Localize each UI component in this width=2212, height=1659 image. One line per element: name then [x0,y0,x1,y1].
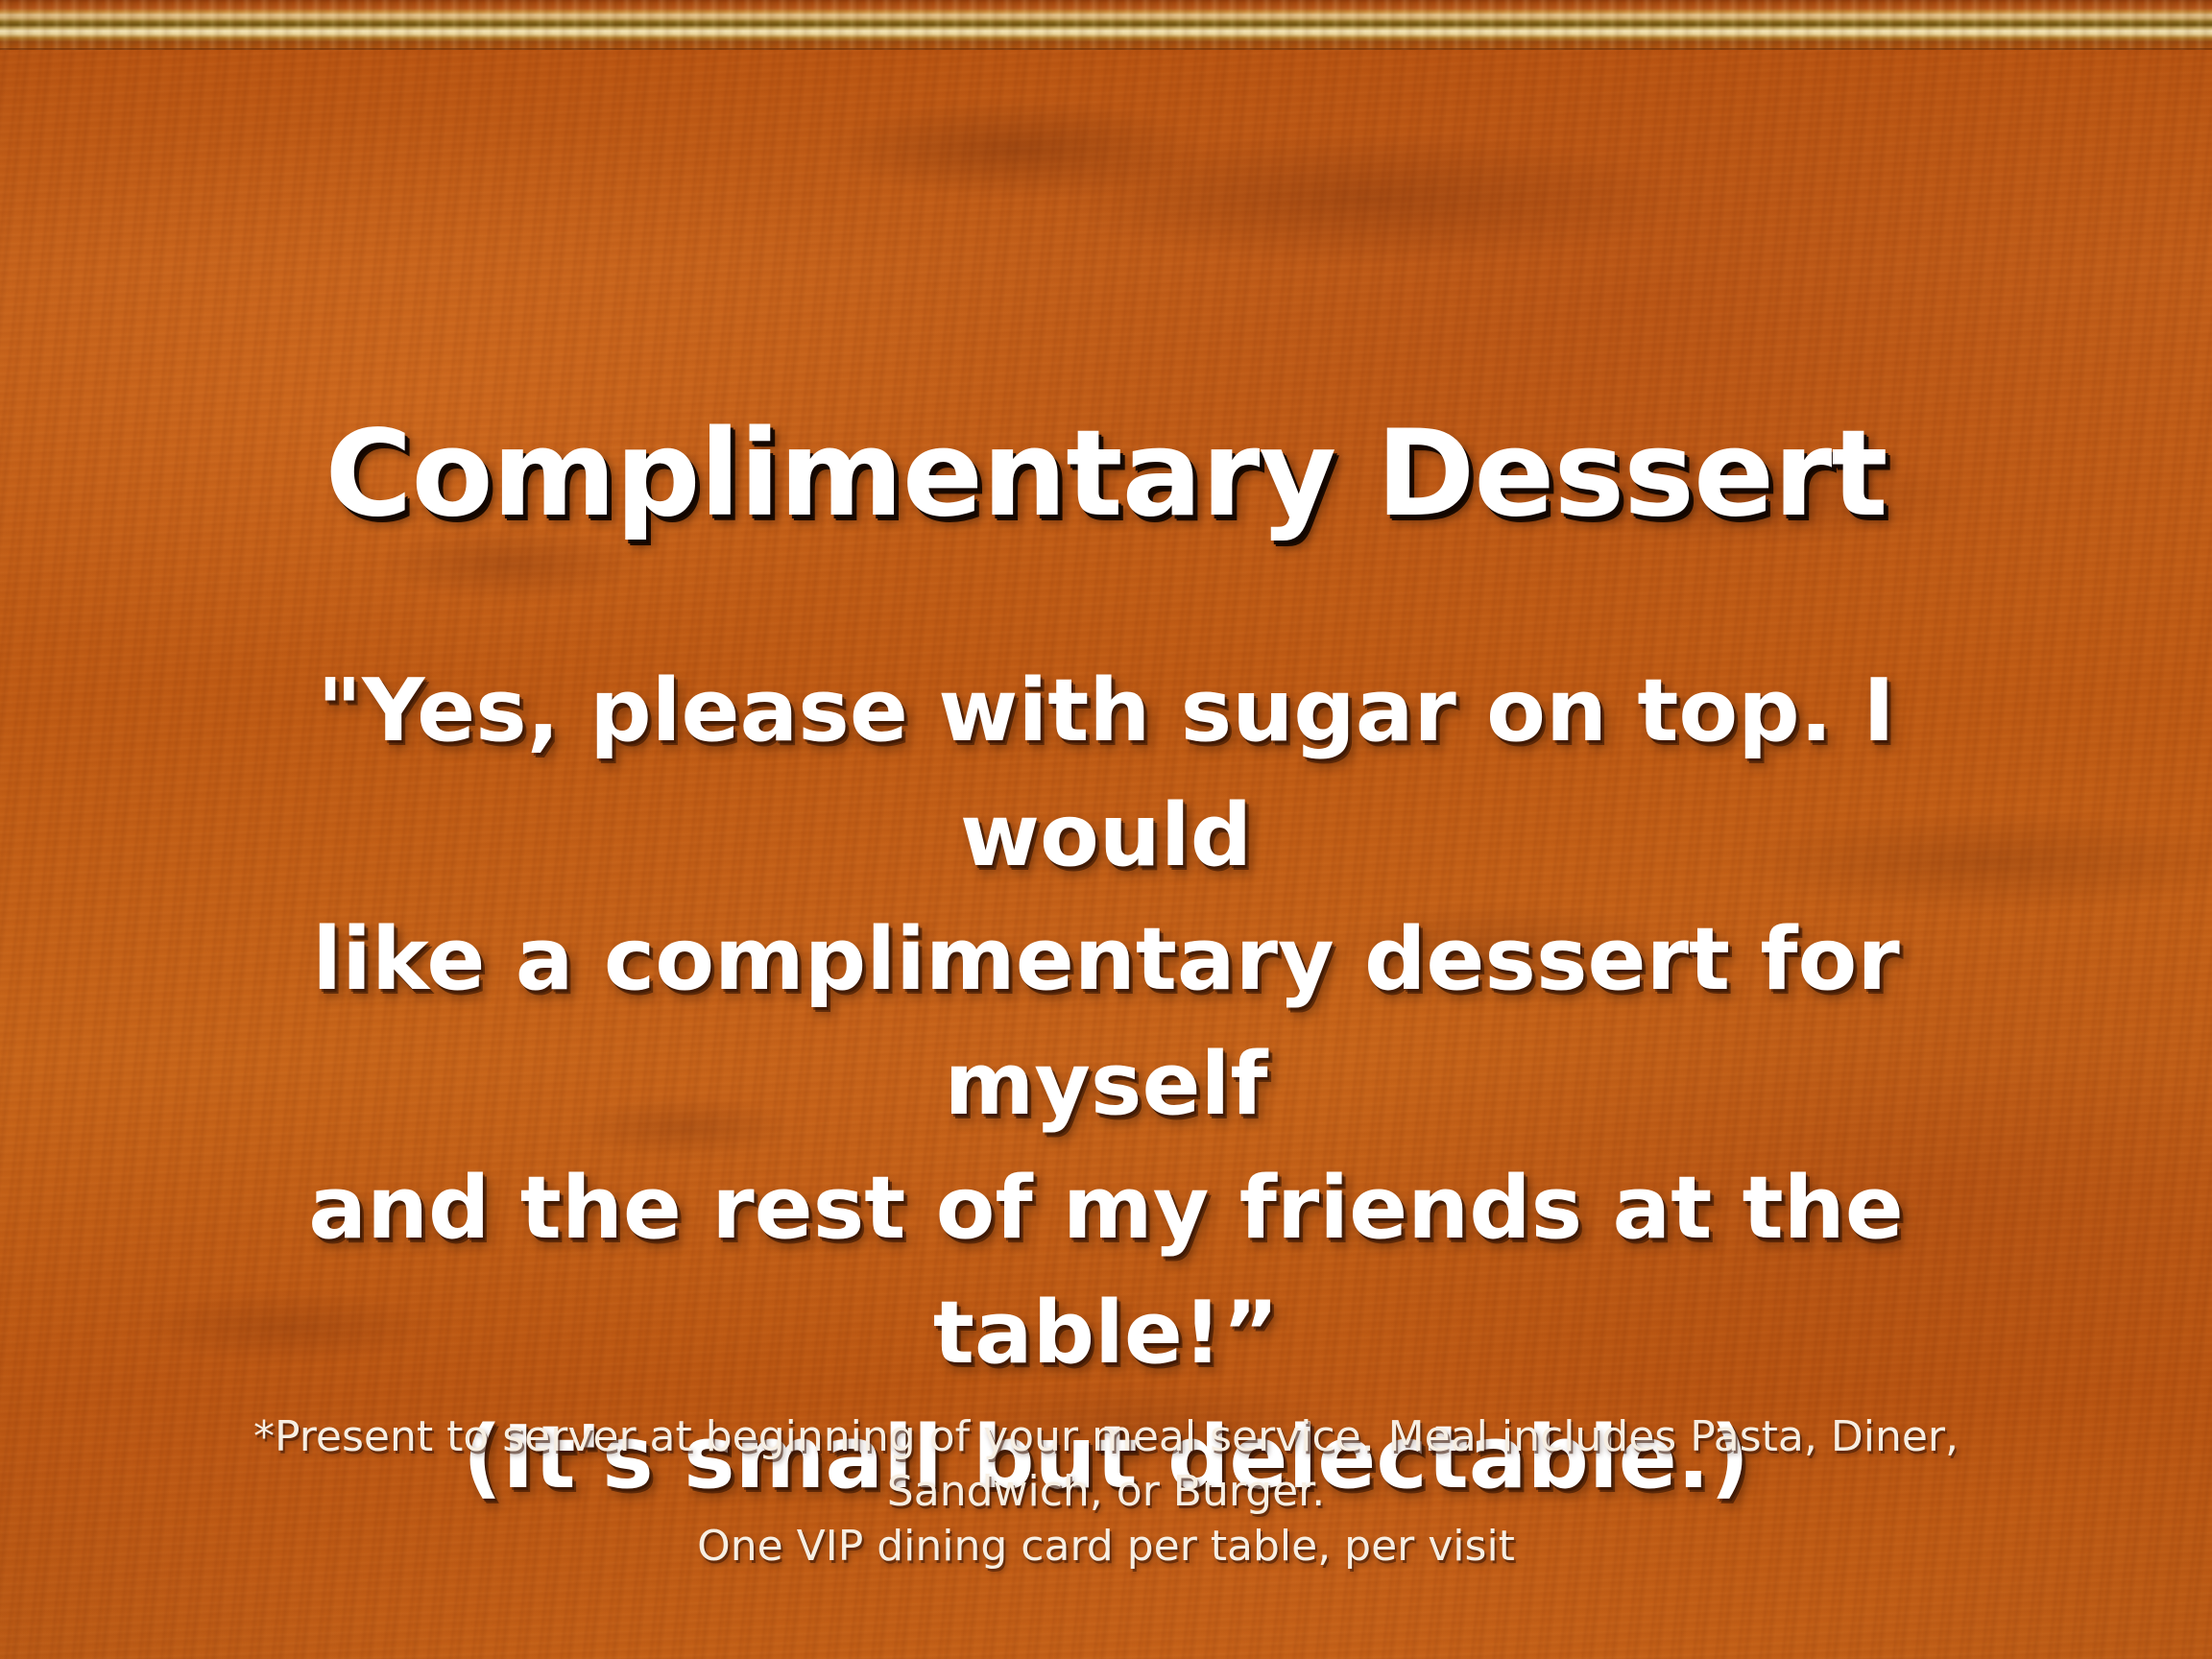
page-title: Complimentary Dessert [0,412,2212,538]
quote-line-1: "Yes, please with sugar on top. I would [163,649,2049,898]
fineprint-line-3: One VIP dining card per table, per visit [144,1519,2068,1574]
dessert-coupon-card: Complimentary Dessert "Yes, please with … [0,0,2212,1659]
quote-block: "Yes, please with sugar on top. I would … [163,649,2049,1520]
fineprint-line-2: Sandwich, or Burger. [144,1464,2068,1519]
fineprint-line-1: *Present to server at beginning of your … [144,1409,2068,1464]
card-content: Complimentary Dessert "Yes, please with … [0,0,2212,1659]
fineprint-block: *Present to server at beginning of your … [144,1409,2068,1575]
quote-line-3: and the rest of my friends at the table!… [163,1146,2049,1395]
quote-line-2: like a complimentary dessert for myself [163,898,2049,1146]
